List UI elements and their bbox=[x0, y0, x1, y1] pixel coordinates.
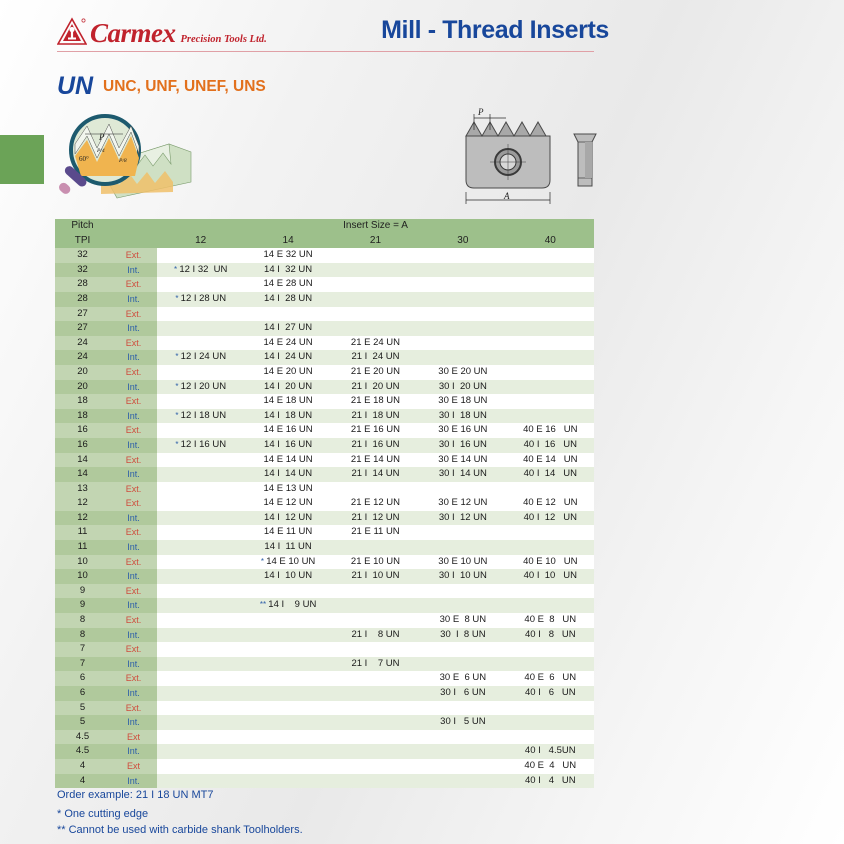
cell-insert-size-12 bbox=[157, 336, 244, 351]
cell-insert-size-40: 40 E 16 UN bbox=[507, 423, 594, 438]
cell-pitch: 7 bbox=[55, 642, 110, 657]
cell-insert-size-21: 21 E 24 UN bbox=[332, 336, 419, 351]
cell-insert-size-30 bbox=[419, 759, 506, 774]
table-row: 24Ext.14 E 24 UN21 E 24 UN bbox=[55, 336, 594, 351]
cell-insert-size-40: 40 I 12 UN bbox=[507, 511, 594, 526]
table-row: 28Ext.14 E 28 UN bbox=[55, 277, 594, 292]
table-row: 7Ext. bbox=[55, 642, 594, 657]
table-row: 24Int.* 12 I 24 UN14 I 24 UN21 I 24 UN bbox=[55, 350, 594, 365]
cell-insert-size-12 bbox=[157, 467, 244, 482]
table-header-row-1: Pitch TPI Insert Size = A bbox=[55, 219, 594, 234]
cell-insert-size-30: 30 E 20 UN bbox=[419, 365, 506, 380]
cell-insert-size-21: 21 I 10 UN bbox=[332, 569, 419, 584]
cell-insert-size-21: 21 I 7 UN bbox=[332, 657, 419, 672]
cell-insert-size-14 bbox=[244, 671, 331, 686]
cell-pitch: 16 bbox=[55, 438, 110, 453]
cell-pitch: 27 bbox=[55, 321, 110, 336]
cell-insert-size-21 bbox=[332, 701, 419, 716]
cell-insert-size-30 bbox=[419, 657, 506, 672]
cell-insert-size-14: 14 I 28 UN bbox=[244, 292, 331, 307]
cell-insert-size-12: * 12 I 28 UN bbox=[157, 292, 244, 307]
cell-type: Ext. bbox=[110, 336, 157, 351]
cell-insert-size-14: 14 I 11 UN bbox=[244, 540, 331, 555]
cell-insert-size-12 bbox=[157, 628, 244, 643]
cell-insert-size-21 bbox=[332, 321, 419, 336]
cell-insert-size-30 bbox=[419, 744, 506, 759]
cell-insert-size-30: 30 I 20 UN bbox=[419, 380, 506, 395]
cell-insert-size-21 bbox=[332, 263, 419, 278]
pitch-dimension: P bbox=[474, 108, 506, 130]
cell-type: Ext. bbox=[110, 482, 157, 497]
cell-insert-size-14: 14 E 18 UN bbox=[244, 394, 331, 409]
cell-type: Int. bbox=[110, 350, 157, 365]
cell-insert-size-40 bbox=[507, 409, 594, 424]
cell-insert-size-21 bbox=[332, 540, 419, 555]
thread-profile-magnifier-illustration: P P/4 P/8 60° bbox=[57, 104, 197, 206]
cell-insert-size-40 bbox=[507, 292, 594, 307]
cell-insert-size-21 bbox=[332, 248, 419, 263]
cell-type: Ext. bbox=[110, 365, 157, 380]
col-header-insert-size: Insert Size = A bbox=[157, 219, 594, 234]
cell-pitch: 8 bbox=[55, 613, 110, 628]
cell-insert-size-40: 40 E 12 UN bbox=[507, 496, 594, 511]
cell-pitch: 20 bbox=[55, 365, 110, 380]
table-row: 4.5Ext bbox=[55, 730, 594, 745]
cell-pitch: 20 bbox=[55, 380, 110, 395]
page-title: Mill - Thread Inserts bbox=[370, 17, 620, 45]
cell-insert-size-14: 14 E 12 UN bbox=[244, 496, 331, 511]
cell-insert-size-40: 40 I 4.5UN bbox=[507, 744, 594, 759]
footnote-carbide-shank: ** Cannot be used with carbide shank Too… bbox=[57, 823, 303, 839]
cell-insert-size-30 bbox=[419, 598, 506, 613]
cell-type: Int. bbox=[110, 657, 157, 672]
table-row: 6Int.30 I 6 UN40 I 6 UN bbox=[55, 686, 594, 701]
cell-pitch: 12 bbox=[55, 496, 110, 511]
cell-insert-size-12 bbox=[157, 744, 244, 759]
cell-pitch: 28 bbox=[55, 277, 110, 292]
cell-pitch: 5 bbox=[55, 701, 110, 716]
cell-insert-size-12 bbox=[157, 759, 244, 774]
cell-insert-size-21: 21 E 10 UN bbox=[332, 555, 419, 570]
cell-insert-size-14 bbox=[244, 686, 331, 701]
cell-insert-size-21 bbox=[332, 686, 419, 701]
table-row: 12Ext.14 E 12 UN21 E 12 UN30 E 12 UN40 E… bbox=[55, 496, 594, 511]
cell-insert-size-30: 30 I 16 UN bbox=[419, 438, 506, 453]
cell-pitch: 9 bbox=[55, 584, 110, 599]
footnote-one-cutting-edge: * One cutting edge bbox=[57, 807, 303, 823]
cell-insert-size-40: 40 E 8 UN bbox=[507, 613, 594, 628]
logo-tagline: Precision Tools Ltd. bbox=[181, 35, 267, 46]
cell-insert-size-14: 14 E 20 UN bbox=[244, 365, 331, 380]
cell-insert-size-14: 14 I 18 UN bbox=[244, 409, 331, 424]
width-dimension: A bbox=[466, 191, 550, 204]
cell-insert-size-12 bbox=[157, 686, 244, 701]
cell-type: Int. bbox=[110, 409, 157, 424]
cell-insert-size-40: 40 I 6 UN bbox=[507, 686, 594, 701]
cell-insert-size-12 bbox=[157, 496, 244, 511]
cell-insert-size-30 bbox=[419, 482, 506, 497]
cell-insert-size-14: 14 I 14 UN bbox=[244, 467, 331, 482]
pitch-label-line2: TPI bbox=[55, 234, 110, 249]
cell-pitch: 18 bbox=[55, 394, 110, 409]
eighth-pitch-label: P/8 bbox=[118, 158, 127, 164]
table-row: 20Int.* 12 I 20 UN14 I 20 UN21 I 20 UN30… bbox=[55, 380, 594, 395]
footnote-marker: * bbox=[175, 352, 180, 361]
col-header-type bbox=[110, 219, 157, 248]
cell-insert-size-12 bbox=[157, 701, 244, 716]
cell-insert-size-21 bbox=[332, 584, 419, 599]
cell-insert-size-12: * 12 I 32 UN bbox=[157, 263, 244, 278]
cell-insert-size-14 bbox=[244, 628, 331, 643]
cell-insert-size-12 bbox=[157, 482, 244, 497]
cell-insert-size-21 bbox=[332, 613, 419, 628]
cell-insert-size-12: * 12 I 24 UN bbox=[157, 350, 244, 365]
table-body: 32Ext.14 E 32 UN32Int.* 12 I 32 UN14 I 3… bbox=[55, 248, 594, 788]
cell-insert-size-14: 14 E 28 UN bbox=[244, 277, 331, 292]
cell-type: Int. bbox=[110, 715, 157, 730]
cell-insert-size-12: * 12 I 16 UN bbox=[157, 438, 244, 453]
cell-insert-size-21 bbox=[332, 642, 419, 657]
cell-insert-size-12 bbox=[157, 584, 244, 599]
cell-insert-size-40: 40 I 14 UN bbox=[507, 467, 594, 482]
cell-pitch: 8 bbox=[55, 628, 110, 643]
cell-type: Int. bbox=[110, 540, 157, 555]
cell-insert-size-30 bbox=[419, 321, 506, 336]
cell-pitch: 6 bbox=[55, 671, 110, 686]
page-header: Carmex Precision Tools Ltd. Mill - Threa… bbox=[0, 0, 844, 60]
cell-pitch: 12 bbox=[55, 511, 110, 526]
cell-pitch: 24 bbox=[55, 336, 110, 351]
cell-insert-size-14 bbox=[244, 584, 331, 599]
cell-insert-size-30: 30 E 14 UN bbox=[419, 453, 506, 468]
cell-type: Ext. bbox=[110, 642, 157, 657]
quarter-pitch-label: P/4 bbox=[96, 147, 105, 154]
cell-type: Ext. bbox=[110, 701, 157, 716]
cell-insert-size-21: 21 E 16 UN bbox=[332, 423, 419, 438]
cell-insert-size-30 bbox=[419, 292, 506, 307]
cell-insert-size-40 bbox=[507, 642, 594, 657]
cell-type: Ext. bbox=[110, 423, 157, 438]
cell-type: Int. bbox=[110, 628, 157, 643]
cell-pitch: 4 bbox=[55, 759, 110, 774]
cell-insert-size-12 bbox=[157, 555, 244, 570]
cell-insert-size-40: 40 E 6 UN bbox=[507, 671, 594, 686]
cell-insert-size-40 bbox=[507, 307, 594, 322]
cell-insert-size-14: 14 I 12 UN bbox=[244, 511, 331, 526]
cell-insert-size-21: 21 I 8 UN bbox=[332, 628, 419, 643]
cell-insert-size-14: * 14 E 10 UN bbox=[244, 555, 331, 570]
cell-insert-size-21: 21 E 12 UN bbox=[332, 496, 419, 511]
cell-insert-size-40 bbox=[507, 394, 594, 409]
cell-insert-size-40: 40 E 10 UN bbox=[507, 555, 594, 570]
section-tab bbox=[0, 135, 44, 184]
table-row: 32Ext.14 E 32 UN bbox=[55, 248, 594, 263]
cell-insert-size-30: 30 I 6 UN bbox=[419, 686, 506, 701]
cell-insert-size-21 bbox=[332, 482, 419, 497]
cell-pitch: 32 bbox=[55, 248, 110, 263]
footnote-marker: ** bbox=[260, 600, 268, 609]
table-row: 32Int.* 12 I 32 UN14 I 32 UN bbox=[55, 263, 594, 278]
cell-insert-size-30: 30 I 18 UN bbox=[419, 409, 506, 424]
cell-insert-size-30: 30 E 16 UN bbox=[419, 423, 506, 438]
cell-pitch: 4 bbox=[55, 774, 110, 789]
cell-insert-size-30: 30 I 14 UN bbox=[419, 467, 506, 482]
cell-insert-size-30: 30 E 6 UN bbox=[419, 671, 506, 686]
table-row: 13Ext.14 E 13 UN bbox=[55, 482, 594, 497]
cell-pitch: 6 bbox=[55, 686, 110, 701]
cell-insert-size-30 bbox=[419, 336, 506, 351]
cell-insert-size-40 bbox=[507, 263, 594, 278]
angle-label: 60° bbox=[79, 155, 89, 163]
cell-insert-size-40 bbox=[507, 277, 594, 292]
cell-insert-size-40 bbox=[507, 365, 594, 380]
cell-insert-size-21 bbox=[332, 715, 419, 730]
cell-insert-size-12 bbox=[157, 277, 244, 292]
cell-insert-size-30 bbox=[419, 263, 506, 278]
table-row: 4Int.40 I 4 UN bbox=[55, 774, 594, 789]
cell-type: Ext. bbox=[110, 307, 157, 322]
cell-insert-size-14: 14 I 20 UN bbox=[244, 380, 331, 395]
cell-insert-size-30 bbox=[419, 774, 506, 789]
cell-type: Ext. bbox=[110, 277, 157, 292]
header-divider bbox=[57, 51, 594, 52]
cell-pitch: 4.5 bbox=[55, 730, 110, 745]
col-header-size-12: 12 bbox=[157, 234, 244, 249]
cell-insert-size-21: 21 I 16 UN bbox=[332, 438, 419, 453]
cell-insert-size-21: 21 E 20 UN bbox=[332, 365, 419, 380]
width-dimension-label: A bbox=[503, 191, 510, 201]
cell-insert-size-12 bbox=[157, 248, 244, 263]
footnotes: Order example: 21 I 18 UN MT7 * One cutt… bbox=[57, 788, 303, 839]
cell-insert-size-12 bbox=[157, 511, 244, 526]
cell-insert-size-30 bbox=[419, 307, 506, 322]
cell-insert-size-12 bbox=[157, 540, 244, 555]
magnifier-lens: P P/4 P/8 60° bbox=[71, 116, 139, 184]
cell-insert-size-14: 14 E 13 UN bbox=[244, 482, 331, 497]
cell-type: Int. bbox=[110, 744, 157, 759]
cell-insert-size-14 bbox=[244, 307, 331, 322]
cell-insert-size-12 bbox=[157, 525, 244, 540]
table-row: 4.5Int.40 I 4.5UN bbox=[55, 744, 594, 759]
table-row: 12Int.14 I 12 UN21 I 12 UN30 I 12 UN40 I… bbox=[55, 511, 594, 526]
cell-insert-size-14: 14 E 24 UN bbox=[244, 336, 331, 351]
cell-insert-size-12 bbox=[157, 657, 244, 672]
table-row: 5Int.30 I 5 UN bbox=[55, 715, 594, 730]
col-header-size-14: 14 bbox=[244, 234, 331, 249]
pitch-label-line1: Pitch bbox=[55, 219, 110, 234]
cell-insert-size-12 bbox=[157, 394, 244, 409]
cell-insert-size-21 bbox=[332, 730, 419, 745]
table-row: 9Ext. bbox=[55, 584, 594, 599]
cell-insert-size-21: 21 I 18 UN bbox=[332, 409, 419, 424]
cell-pitch: 11 bbox=[55, 540, 110, 555]
cell-pitch: 24 bbox=[55, 350, 110, 365]
cell-pitch: 14 bbox=[55, 467, 110, 482]
cell-pitch: 13 bbox=[55, 482, 110, 497]
cell-insert-size-30: 30 E 12 UN bbox=[419, 496, 506, 511]
table-row: 10Ext.* 14 E 10 UN21 E 10 UN30 E 10 UN40… bbox=[55, 555, 594, 570]
col-header-size-30: 30 bbox=[419, 234, 506, 249]
footnote-marker: * bbox=[175, 382, 180, 391]
table-row: 20Ext.14 E 20 UN21 E 20 UN30 E 20 UN bbox=[55, 365, 594, 380]
cell-insert-size-30 bbox=[419, 730, 506, 745]
cell-insert-size-21 bbox=[332, 774, 419, 789]
pitch-label: P bbox=[98, 132, 105, 142]
table-row: 16Ext.14 E 16 UN21 E 16 UN30 E 16 UN40 E… bbox=[55, 423, 594, 438]
table-row: 8Int.21 I 8 UN30 I 8 UN40 I 8 UN bbox=[55, 628, 594, 643]
cell-insert-size-21: 21 I 20 UN bbox=[332, 380, 419, 395]
cell-insert-size-30: 30 E 8 UN bbox=[419, 613, 506, 628]
cell-pitch: 16 bbox=[55, 423, 110, 438]
cell-insert-size-21 bbox=[332, 307, 419, 322]
cell-insert-size-21 bbox=[332, 292, 419, 307]
cell-type: Int. bbox=[110, 292, 157, 307]
table-row: 27Ext. bbox=[55, 307, 594, 322]
cell-insert-size-14: 14 E 14 UN bbox=[244, 453, 331, 468]
cell-insert-size-40 bbox=[507, 701, 594, 716]
cell-type: Int. bbox=[110, 511, 157, 526]
cell-insert-size-14 bbox=[244, 701, 331, 716]
table-row: 27Int.14 I 27 UN bbox=[55, 321, 594, 336]
cell-insert-size-30: 30 I 10 UN bbox=[419, 569, 506, 584]
standard-types: UNC, UNF, UNEF, UNS bbox=[103, 79, 266, 95]
cell-pitch: 5 bbox=[55, 715, 110, 730]
cell-insert-size-12 bbox=[157, 321, 244, 336]
cell-insert-size-40 bbox=[507, 482, 594, 497]
cell-type: Ext bbox=[110, 759, 157, 774]
footnote-marker: * bbox=[261, 557, 266, 566]
cell-insert-size-40: 40 E 14 UN bbox=[507, 453, 594, 468]
table-row: 10Int.14 I 10 UN21 I 10 UN30 I 10 UN40 I… bbox=[55, 569, 594, 584]
table-row: 11Int.14 I 11 UN bbox=[55, 540, 594, 555]
cell-insert-size-40 bbox=[507, 380, 594, 395]
pitch-dimension-label: P bbox=[477, 108, 484, 117]
col-header-size-40: 40 bbox=[507, 234, 594, 249]
cell-insert-size-12 bbox=[157, 774, 244, 789]
cell-type: Int. bbox=[110, 321, 157, 336]
cell-insert-size-30: 30 E 10 UN bbox=[419, 555, 506, 570]
footnote-marker: * bbox=[174, 265, 179, 274]
cell-type: Ext. bbox=[110, 248, 157, 263]
cell-pitch: 27 bbox=[55, 307, 110, 322]
cell-pitch: 10 bbox=[55, 569, 110, 584]
cell-insert-size-40 bbox=[507, 350, 594, 365]
cell-insert-size-30 bbox=[419, 277, 506, 292]
cell-insert-size-40 bbox=[507, 715, 594, 730]
table-row: 7Int.21 I 7 UN bbox=[55, 657, 594, 672]
cell-insert-size-14: 14 E 11 UN bbox=[244, 525, 331, 540]
footnote-marker: * bbox=[175, 440, 180, 449]
cell-insert-size-40: 40 I 10 UN bbox=[507, 569, 594, 584]
cell-insert-size-12 bbox=[157, 365, 244, 380]
table-header: Pitch TPI Insert Size = A 12 14 21 30 40 bbox=[55, 219, 594, 248]
cell-type: Int. bbox=[110, 263, 157, 278]
cell-insert-size-14 bbox=[244, 774, 331, 789]
cell-insert-size-40: 40 I 16 UN bbox=[507, 438, 594, 453]
table-row: 4Ext40 E 4 UN bbox=[55, 759, 594, 774]
cell-insert-size-12 bbox=[157, 730, 244, 745]
col-header-pitch: Pitch TPI bbox=[55, 219, 110, 248]
footnote-marker: * bbox=[175, 411, 180, 420]
cell-insert-size-40 bbox=[507, 336, 594, 351]
table-row: 18Int.* 12 I 18 UN14 I 18 UN21 I 18 UN30… bbox=[55, 409, 594, 424]
cell-insert-size-30 bbox=[419, 248, 506, 263]
insert-side-view bbox=[574, 134, 596, 186]
cell-insert-size-21: 21 E 18 UN bbox=[332, 394, 419, 409]
cell-insert-size-14: 14 E 16 UN bbox=[244, 423, 331, 438]
table-row: 16Int.* 12 I 16 UN14 I 16 UN21 I 16 UN30… bbox=[55, 438, 594, 453]
order-example: Order example: 21 I 18 UN MT7 bbox=[57, 788, 303, 804]
insert-dimension-diagram: P A bbox=[448, 108, 608, 208]
table-row: 28Int.* 12 I 28 UN14 I 28 UN bbox=[55, 292, 594, 307]
table-row: 14Ext.14 E 14 UN21 E 14 UN30 E 14 UN40 E… bbox=[55, 453, 594, 468]
cell-insert-size-30 bbox=[419, 525, 506, 540]
cell-type: Ext. bbox=[110, 453, 157, 468]
cell-insert-size-40 bbox=[507, 540, 594, 555]
cell-pitch: 11 bbox=[55, 525, 110, 540]
cell-insert-size-30 bbox=[419, 350, 506, 365]
cell-pitch: 18 bbox=[55, 409, 110, 424]
cell-insert-size-30: 30 I 8 UN bbox=[419, 628, 506, 643]
cell-insert-size-30: 30 E 18 UN bbox=[419, 394, 506, 409]
cell-type: Int. bbox=[110, 774, 157, 789]
cell-insert-size-30 bbox=[419, 540, 506, 555]
cell-insert-size-14 bbox=[244, 715, 331, 730]
cell-insert-size-21: 21 E 14 UN bbox=[332, 453, 419, 468]
cell-insert-size-12 bbox=[157, 671, 244, 686]
cell-pitch: 32 bbox=[55, 263, 110, 278]
insert-front-view bbox=[466, 122, 550, 188]
cell-insert-size-21 bbox=[332, 671, 419, 686]
cell-insert-size-12 bbox=[157, 569, 244, 584]
cell-insert-size-21: 21 E 11 UN bbox=[332, 525, 419, 540]
cell-insert-size-40 bbox=[507, 598, 594, 613]
cell-insert-size-12 bbox=[157, 453, 244, 468]
table-row: 8Ext.30 E 8 UN40 E 8 UN bbox=[55, 613, 594, 628]
cell-insert-size-12 bbox=[157, 715, 244, 730]
cell-type: Int. bbox=[110, 380, 157, 395]
cell-insert-size-14: 14 I 32 UN bbox=[244, 263, 331, 278]
cell-type: Int. bbox=[110, 686, 157, 701]
cell-insert-size-21: 21 I 12 UN bbox=[332, 511, 419, 526]
cell-insert-size-40: 40 I 4 UN bbox=[507, 774, 594, 789]
cell-insert-size-14: 14 I 10 UN bbox=[244, 569, 331, 584]
cell-insert-size-30: 30 I 12 UN bbox=[419, 511, 506, 526]
cell-pitch: 4.5 bbox=[55, 744, 110, 759]
cell-insert-size-14 bbox=[244, 613, 331, 628]
cell-insert-size-30 bbox=[419, 642, 506, 657]
cell-insert-size-40 bbox=[507, 321, 594, 336]
cell-type: Int. bbox=[110, 438, 157, 453]
cell-insert-size-40 bbox=[507, 584, 594, 599]
cell-insert-size-14: ** 14 I 9 UN bbox=[244, 598, 331, 613]
cell-insert-size-12 bbox=[157, 613, 244, 628]
cell-insert-size-21: 21 I 14 UN bbox=[332, 467, 419, 482]
cell-insert-size-21 bbox=[332, 598, 419, 613]
cell-insert-size-14: 14 I 16 UN bbox=[244, 438, 331, 453]
cell-insert-size-40 bbox=[507, 730, 594, 745]
cell-type: Ext bbox=[110, 730, 157, 745]
footnote-marker: * bbox=[175, 294, 180, 303]
cell-insert-size-14: 14 I 27 UN bbox=[244, 321, 331, 336]
cell-type: Int. bbox=[110, 598, 157, 613]
cell-insert-size-14 bbox=[244, 642, 331, 657]
table-row: 5Ext. bbox=[55, 701, 594, 716]
cell-pitch: 7 bbox=[55, 657, 110, 672]
cell-insert-size-14: 14 E 32 UN bbox=[244, 248, 331, 263]
cell-insert-size-12 bbox=[157, 307, 244, 322]
insert-size-table: Pitch TPI Insert Size = A 12 14 21 30 40… bbox=[55, 219, 594, 788]
